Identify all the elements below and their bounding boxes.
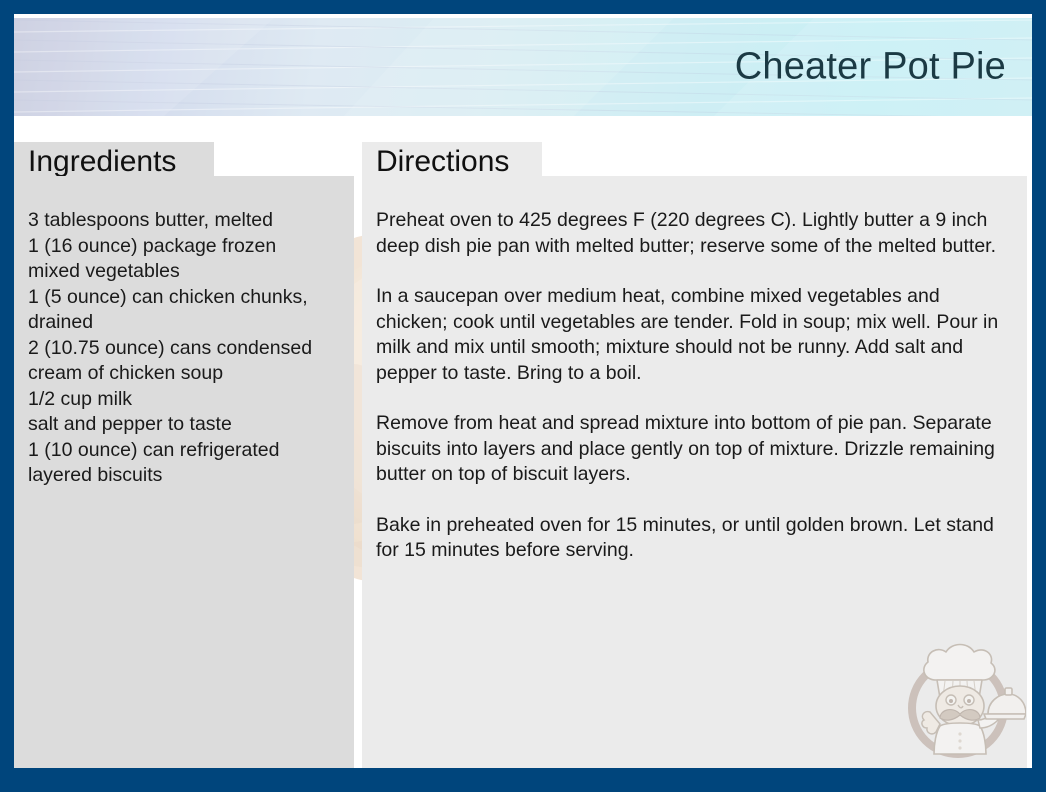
list-item: 1 (16 ounce) package frozen — [28, 234, 346, 260]
directions-steps: Preheat oven to 425 degrees F (220 degre… — [376, 208, 1016, 564]
chef-mascot-logo — [896, 640, 1026, 762]
direction-step: In a saucepan over medium heat, combine … — [376, 284, 1016, 386]
list-item: 1 (5 ounce) can chicken chunks, — [28, 285, 346, 311]
recipe-card: Cheater Pot Pie — [0, 0, 1046, 792]
list-item: cream of chicken soup — [28, 361, 346, 387]
list-item: 3 tablespoons butter, melted — [28, 208, 346, 234]
list-item: salt and pepper to taste — [28, 412, 346, 438]
directions-heading: Directions — [376, 145, 509, 178]
page-title: Cheater Pot Pie — [735, 46, 1006, 89]
ingredients-panel: 3 tablespoons butter, melted 1 (16 ounce… — [14, 176, 354, 768]
list-item: 1 (10 ounce) can refrigerated — [28, 438, 346, 464]
header-banner: Cheater Pot Pie — [14, 18, 1032, 116]
direction-step: Preheat oven to 425 degrees F (220 degre… — [376, 208, 1016, 259]
list-item: layered biscuits — [28, 463, 346, 489]
direction-step: Bake in preheated oven for 15 minutes, o… — [376, 513, 1016, 564]
list-item: mixed vegetables — [28, 259, 346, 285]
list-item: drained — [28, 310, 346, 336]
recipe-page: Cheater Pot Pie — [14, 14, 1032, 768]
ingredients-heading: Ingredients — [28, 145, 176, 178]
ingredients-list: 3 tablespoons butter, melted 1 (16 ounce… — [28, 208, 346, 489]
list-item: 2 (10.75 ounce) cans condensed — [28, 336, 346, 362]
direction-step: Remove from heat and spread mixture into… — [376, 411, 1016, 488]
list-item: 1/2 cup milk — [28, 387, 346, 413]
